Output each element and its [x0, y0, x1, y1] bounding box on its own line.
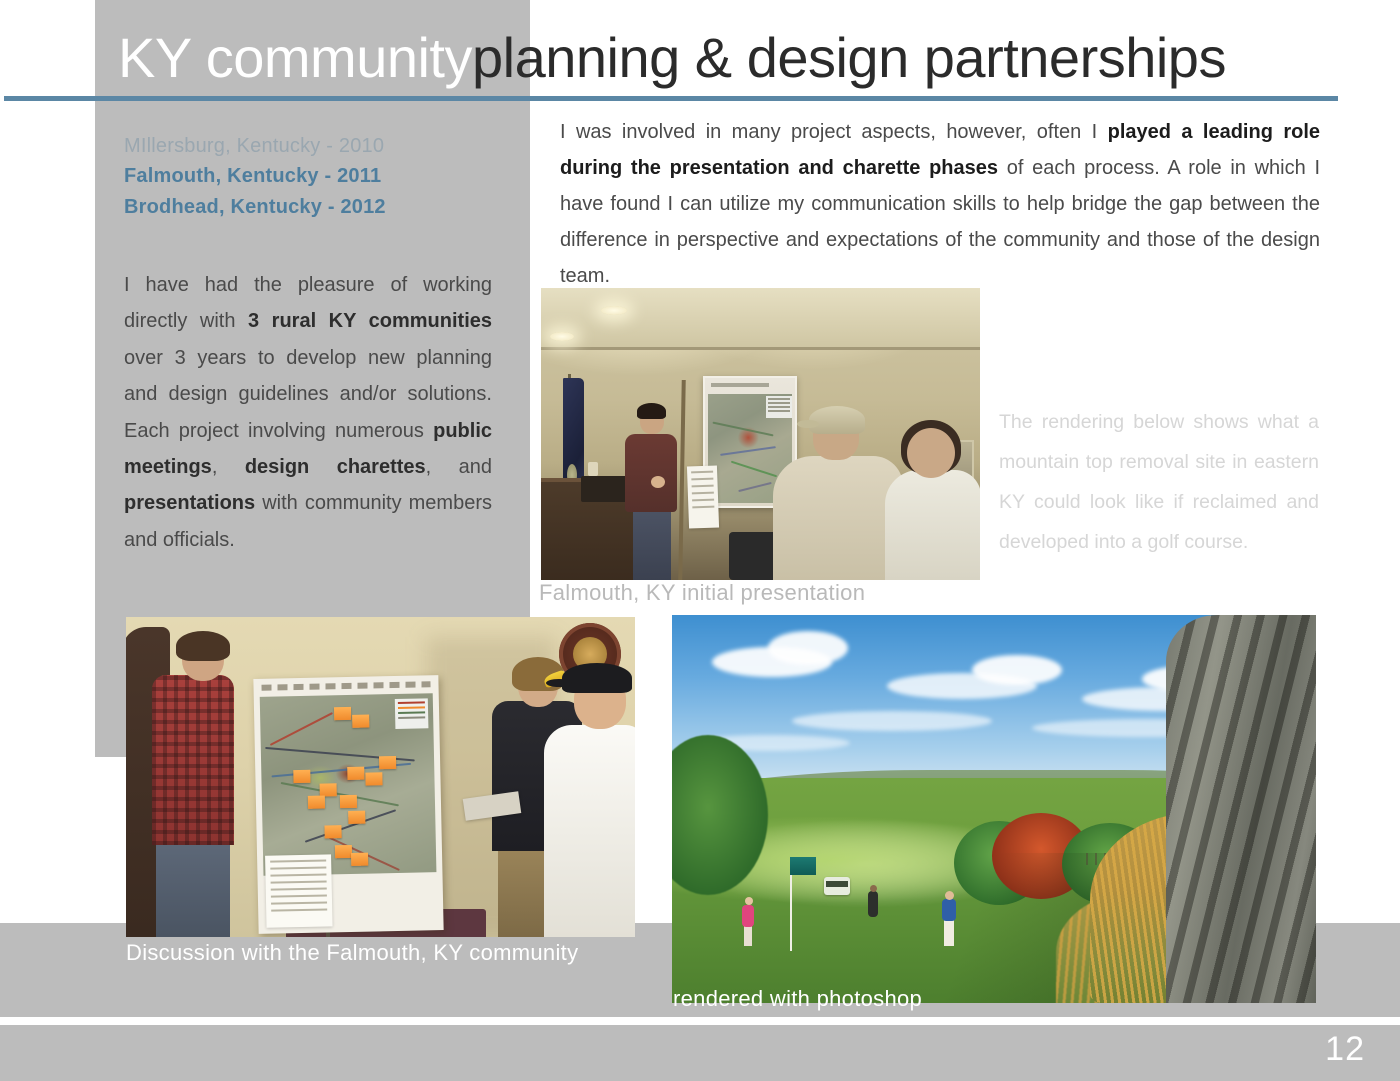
golf-scene	[672, 615, 1316, 1003]
sticky-note	[334, 707, 351, 720]
portfolio-page: KY communityplanning & design partnershi…	[0, 0, 1400, 1081]
ceiling-light-icon	[550, 332, 574, 341]
sticky-note	[348, 811, 365, 824]
presenter-hair	[637, 403, 666, 419]
rendering-caption: rendered with photoshop	[673, 986, 922, 1012]
discussion-photo	[126, 617, 635, 937]
easel-leg	[678, 380, 685, 580]
main-paragraph: I was involved in many project aspects, …	[560, 114, 1320, 294]
right-rock-face	[1166, 615, 1316, 1003]
baseball-cap	[809, 406, 865, 434]
cloud	[768, 631, 848, 665]
golfer-legs	[744, 926, 752, 946]
sticky-note	[351, 853, 368, 866]
page-title: KY communityplanning & design partnershi…	[118, 30, 1226, 86]
header-divider-rule	[4, 96, 1338, 101]
sticky-note	[324, 825, 341, 838]
sticky-note	[365, 772, 382, 785]
sticky-note	[293, 770, 310, 783]
discussion-photo-caption: Discussion with the Falmouth, KY communi…	[126, 940, 578, 966]
sticky-note	[335, 845, 352, 858]
board-title-text	[261, 681, 430, 691]
presenter-torso	[625, 434, 677, 512]
charette-scene	[126, 617, 635, 937]
audience-member-body	[773, 456, 903, 580]
golf-course-rendering	[672, 615, 1316, 1003]
ceiling-light-icon	[601, 306, 627, 315]
location-item-falmouth: Falmouth, Kentucky - 2011	[124, 161, 524, 191]
charette-map-board	[253, 675, 443, 934]
golfer-torso	[742, 905, 754, 927]
sticky-note	[352, 715, 369, 728]
podium-monitor	[581, 476, 629, 502]
board-text-panel	[265, 854, 332, 927]
map-route	[720, 446, 776, 456]
cloud	[972, 655, 1062, 685]
board-legend	[395, 698, 429, 729]
footer-gray-band	[0, 1025, 1400, 1081]
page-number: 12	[1325, 1030, 1365, 1069]
sidebar-paragraph: I have had the pleasure of working direc…	[124, 267, 492, 558]
sticky-note	[308, 795, 325, 808]
plaid-person-torso	[152, 675, 234, 845]
sticky-note	[340, 795, 357, 808]
rendering-description-note: The rendering below shows what a mountai…	[999, 403, 1319, 563]
presenter-legs	[633, 510, 671, 580]
audience-member-head	[907, 428, 955, 478]
presenter-hands	[651, 476, 665, 488]
map-route	[712, 422, 773, 437]
sticky-note	[347, 767, 364, 780]
handout-sheet	[687, 465, 719, 528]
green-flag	[790, 857, 816, 875]
map-title-bar	[711, 383, 769, 387]
location-item-brodhead: Brodhead, Kentucky - 2012	[124, 192, 524, 222]
cloud	[792, 711, 992, 731]
meeting-room-scene	[541, 288, 980, 580]
map-legend	[766, 396, 792, 418]
map-route	[731, 461, 777, 478]
plaid-person-legs	[156, 843, 230, 937]
page-title-white: KY community	[118, 26, 472, 89]
presentation-photo	[541, 288, 980, 580]
plaid-person-hair	[176, 631, 230, 661]
page-title-dark: planning & design partnerships	[472, 26, 1226, 89]
project-location-list: MIllersburg, Kentucky - 2010 Falmouth, K…	[124, 131, 524, 222]
location-item-millersburg: MIllersburg, Kentucky - 2010	[124, 131, 524, 161]
sticky-note	[379, 756, 396, 769]
black-cap	[562, 663, 632, 693]
audience-member-body	[885, 470, 980, 580]
cup	[588, 462, 598, 476]
map-road	[270, 712, 333, 746]
community-member-torso	[544, 725, 635, 937]
presentation-photo-caption: Falmouth, KY initial presentation	[539, 580, 865, 606]
ceiling	[541, 288, 980, 350]
map-route	[738, 482, 771, 492]
board-map-graphic	[260, 693, 437, 876]
golfer-head	[745, 897, 753, 905]
